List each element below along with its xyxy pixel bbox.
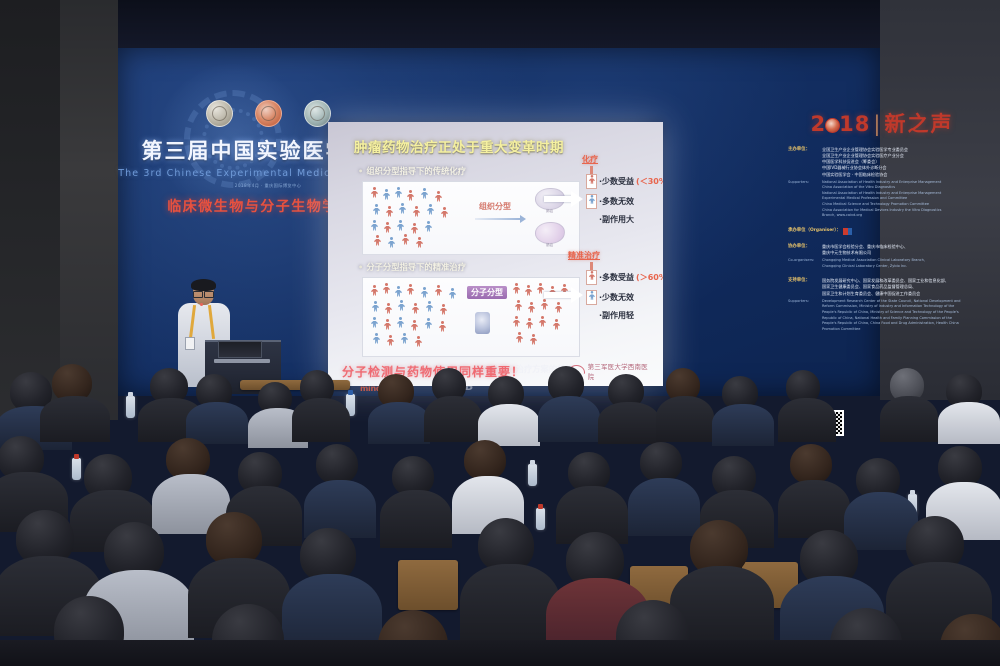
water-bottle [536, 508, 545, 530]
sponsor-column: 218|新之声 主办单位： 全国卫生产业企业管理协会实验医学专业委员会 全国卫生… [784, 108, 980, 334]
patient-population-2 [369, 283, 473, 347]
supporter-body-cn: 国务院发展研究中心、国家发展和改革委员会、国家工业和信息化部、 国家卫生健康委员… [822, 278, 980, 296]
sp-line: Branch, www.caivd.org [822, 213, 862, 217]
outcome-row-sideeffect-1: ·副作用大 [586, 214, 663, 225]
sp-line: 中国实验医学会 · 中国临床检验协会 [822, 172, 887, 177]
audience-shoulder [938, 402, 1000, 444]
audience-shoulder [186, 402, 248, 444]
sp-line: China Medical Science and Technology Pro… [822, 202, 929, 206]
bullet-dot-icon: • [358, 166, 363, 176]
coorg-body-en: Chongqing Medical Association Clinical L… [822, 258, 980, 269]
outcome-text: ·多数无效 [599, 196, 634, 207]
slogan-cn: 新之声 [884, 112, 953, 136]
divider: | [873, 112, 881, 136]
sp-line: 国家卫生和计划生育委员会、健康中国促进工作委员会 [822, 291, 920, 296]
audience-shoulder [712, 404, 774, 446]
sponsor-block-1: 主办单位： 全国卫生产业企业管理协会实验医学专业委员会 全国卫生产业企业管理协会… [784, 147, 980, 219]
outcomes-1: 化疗 ·少数受益 (＜30%) ·多数无效 ·副作用大 [586, 174, 663, 230]
audience-shoulder [380, 490, 452, 548]
audience-head [640, 442, 682, 482]
audience-shoulder [538, 396, 600, 442]
audience-head [464, 440, 506, 480]
sp-line: 重庆市医学会检验分会、重庆市临床检验中心、 [822, 244, 908, 249]
sp-line: People's Republic of China, Ministry of … [822, 310, 959, 314]
sp-line: China Association for Medical Devices In… [822, 208, 941, 212]
slide-title: 肿瘤药物治疗正处于重大变革时期 [354, 136, 651, 156]
audience-head [316, 444, 358, 484]
bullet-1-text: 组织分型指导下的传统化疗 [366, 166, 466, 176]
sp-line: Chongqing Clinical Laboratory Center, Zy… [822, 264, 907, 268]
supporter-body-en: Development Research Center of the State… [822, 299, 980, 333]
audience-shoulder [778, 398, 836, 442]
sp-line: 中国医学科技促进会（筹委会） [822, 159, 879, 164]
conference-hall-photo: 第三届中国实验医学大会 The 3rd Chinese Experimental… [0, 0, 1000, 666]
outcome-text: ·少数无效 [599, 292, 634, 303]
bullet-dot-icon: • [358, 262, 363, 272]
audience-head [790, 444, 832, 484]
audience-shoulder [778, 480, 850, 538]
water-bottle [528, 464, 537, 486]
outcome-pct: (＜30%) [636, 176, 663, 187]
outcome-text: ·多数受益 [599, 272, 634, 283]
person-icon-blue [586, 290, 597, 305]
sponsor-block-2: 承办单位（Organiser）： [784, 228, 980, 235]
water-bottle [72, 458, 81, 480]
sp-line: Promotion Committee [822, 327, 860, 331]
sp-line: 国家卫生健康委员会、国家食品药品监督管理总局、 [822, 284, 916, 289]
sp-line: Chongqing Medical Association Clinical L… [822, 258, 925, 262]
person-icon-blue [586, 194, 597, 209]
sp-line: Development Research Center of the State… [822, 299, 961, 303]
treatment-label-1: 化疗 [582, 154, 598, 165]
year-18: 18 [839, 112, 870, 136]
year-2: 2 [811, 112, 827, 136]
sp-line: Reform Commission, Ministry of Industry … [822, 304, 954, 308]
sp-line: 重庆中元生物技术有限公司 [822, 250, 871, 255]
sponsor-block-4: 支持单位： 国务院发展研究中心、国家发展和改革委员会、国家工业和信息化部、 国家… [784, 278, 980, 332]
outcome-pct: (＞60%) [636, 272, 663, 283]
audience-shoulder [628, 478, 700, 536]
outcome-text: ·少数受益 [599, 176, 634, 187]
sp-line: People's Republic of China, China Food a… [822, 321, 959, 325]
decorative-zero-icon [825, 118, 840, 133]
sponsor-body-cn-1: 全国卫生产业企业管理协会实验医学专业委员会 全国卫生产业企业管理协会实验医疗产业… [822, 147, 980, 178]
audience-shoulder [880, 396, 938, 442]
floor [0, 640, 1000, 666]
microphone-icon [200, 303, 203, 306]
outcome-row-benefit-1: ·少数受益 (＜30%) [586, 174, 663, 189]
diagram-1-center-label: 组织分型 [475, 200, 515, 213]
outcome-row-ineffective-1: ·多数无效 [586, 194, 663, 209]
seal-emblem [206, 100, 233, 127]
diagram-2-center-label: 分子分型 [467, 286, 507, 299]
sp-line: 全国卫生产业企业管理协会实验医学专业委员会 [822, 147, 908, 152]
eyeglasses-icon [193, 291, 214, 296]
outcome-row-ineffective-2: ·少数无效 [586, 290, 663, 305]
flow-arrow-2 [544, 292, 572, 298]
sponsor-block-3: 协办单位： 重庆市医学会检验分会、重庆市临床检验中心、 重庆中元生物技术有限公司… [784, 244, 980, 269]
organiser-logo-icon [843, 228, 852, 235]
outcome-text: ·副作用轻 [599, 310, 634, 321]
diagram-1-arrow [475, 218, 521, 220]
sp-line: National Association of Health Industry … [822, 191, 941, 195]
bullet-2-text: 分子分型指导下的精准治疗 [366, 262, 466, 272]
supporter-head-cn: 支持单位： [788, 278, 822, 296]
speaker-hair [191, 279, 216, 291]
audience-shoulder [40, 396, 110, 442]
projection-screen: 肿瘤药物治疗正处于重大变革时期 •组织分型指导下的传统化疗 [328, 122, 663, 386]
person-icon-red [586, 270, 597, 285]
sp-line: National Association of Health Industry … [822, 180, 941, 184]
diagram-2: 分子分型 [362, 277, 580, 357]
name-badge [185, 337, 195, 350]
audience-shoulder [424, 396, 482, 442]
water-bottle [126, 396, 135, 418]
audience-shoulder [656, 396, 714, 442]
audience-shoulder [304, 480, 376, 538]
ceiling [0, 0, 1000, 48]
sp-line: 国务院发展研究中心、国家发展和改革委员会、国家工业和信息化部、 [822, 278, 949, 283]
audience-shoulder [460, 564, 560, 644]
sp-line: Republic of China, National Health and F… [822, 316, 952, 320]
sp-line: China Association of the Vitro Diagnosti… [822, 185, 895, 189]
person-icon-red [586, 174, 597, 189]
blob-caption-2: 肠癌 [546, 243, 553, 248]
outcome-text: ·副作用大 [599, 214, 634, 225]
audience [0, 360, 1000, 666]
molecule-icon [475, 312, 490, 334]
patient-population-1 [369, 187, 465, 251]
diagram-1: 组织分型 肺癌 肠癌 [362, 181, 580, 255]
chair [398, 560, 458, 610]
audience-shoulder [368, 402, 430, 444]
outcomes-2: 精准治疗 ·多数受益 (＞60%) ·少数无效 ·副作用轻 [586, 270, 663, 326]
coorg-head-cn: 协办单位： [788, 244, 822, 256]
caivd-emblem [304, 100, 331, 127]
sponsor-body-en-1: National Association of Health Industry … [822, 180, 980, 219]
audience-shoulder [292, 398, 350, 442]
sp-line: 中国IVD器械行业协会体外诊断分会 [822, 165, 886, 170]
torch-emblem [255, 100, 282, 127]
sp-line: 全国卫生产业企业管理协会实验医疗产业分会 [822, 153, 904, 158]
audience-shoulder [598, 402, 660, 444]
sponsor-head-en-1: Supporters: [788, 180, 822, 219]
outcome-row-sideeffect-2: ·副作用轻 [586, 310, 663, 321]
tumor-blob-2 [535, 222, 565, 244]
flow-arrow-1 [544, 196, 572, 202]
organiser-head: 承办单位（Organiser）： [788, 228, 841, 235]
laptop-screen [218, 341, 262, 358]
coorg-head-en: Co-organisers: [788, 258, 822, 269]
sp-line: Experimental Medical Profession and Comm… [822, 196, 907, 200]
sponsor-head-cn-1: 主办单位： [788, 147, 822, 178]
supporter-head-en: Supporters: [788, 299, 822, 333]
treatment-label-2: 精准治疗 [568, 250, 600, 261]
year-logo: 218|新之声 [784, 108, 980, 138]
outcome-row-benefit-2: ·多数受益 (＞60%) [586, 270, 663, 285]
coorg-body-cn: 重庆市医学会检验分会、重庆市临床检验中心、 重庆中元生物技术有限公司 [822, 244, 980, 256]
blob-caption-1: 肺癌 [546, 209, 553, 214]
